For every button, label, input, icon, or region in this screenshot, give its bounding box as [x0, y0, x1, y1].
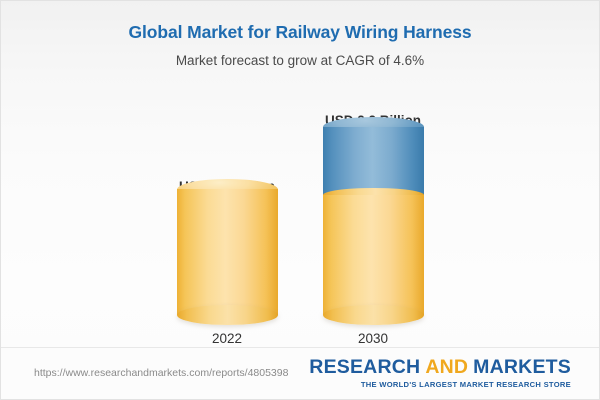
cylinder-bar-2030[interactable] — [323, 127, 424, 315]
infographic-card: Global Market for Railway Wiring Harness… — [0, 0, 600, 400]
logo-tagline: THE WORLD'S LARGEST MARKET RESEARCH STOR… — [309, 379, 571, 390]
research-and-markets-logo[interactable]: RESEARCHANDMARKETS THE WORLD'S LARGEST M… — [309, 356, 571, 390]
page-title: Global Market for Railway Wiring Harness — [1, 21, 599, 43]
cylinder-bottom-cap-icon — [323, 305, 424, 325]
cylinder-body — [177, 189, 278, 315]
cylinder-bar-2022[interactable] — [177, 189, 278, 315]
cylinder-body — [323, 127, 424, 195]
bar-segment-base-2022[interactable] — [177, 189, 278, 315]
bar-segment-base-2030[interactable] — [323, 195, 424, 315]
logo-word-and: AND — [425, 356, 468, 378]
report-url-link[interactable]: https://www.researchandmarkets.com/repor… — [34, 367, 288, 379]
chart-subtitle: Market forecast to grow at CAGR of 4.6% — [1, 51, 599, 71]
logo-word-research: RESEARCH — [309, 356, 420, 378]
x-axis-tick-2022: 2022 — [147, 331, 307, 346]
footer: https://www.researchandmarkets.com/repor… — [1, 347, 599, 399]
logo-word-markets: MARKETS — [473, 356, 571, 378]
chart-header: Global Market for Railway Wiring Harness… — [1, 1, 599, 71]
chart-plot-area: USD 1.5 Billion 2022 USD 2.2 Billion — [1, 81, 599, 346]
x-axis-tick-2030: 2030 — [293, 331, 453, 346]
bar-segment-growth-2030[interactable] — [323, 127, 424, 195]
cylinder-body — [323, 195, 424, 315]
logo-wordmark: RESEARCHANDMARKETS — [309, 356, 571, 378]
cylinder-bottom-cap-icon — [177, 305, 278, 325]
